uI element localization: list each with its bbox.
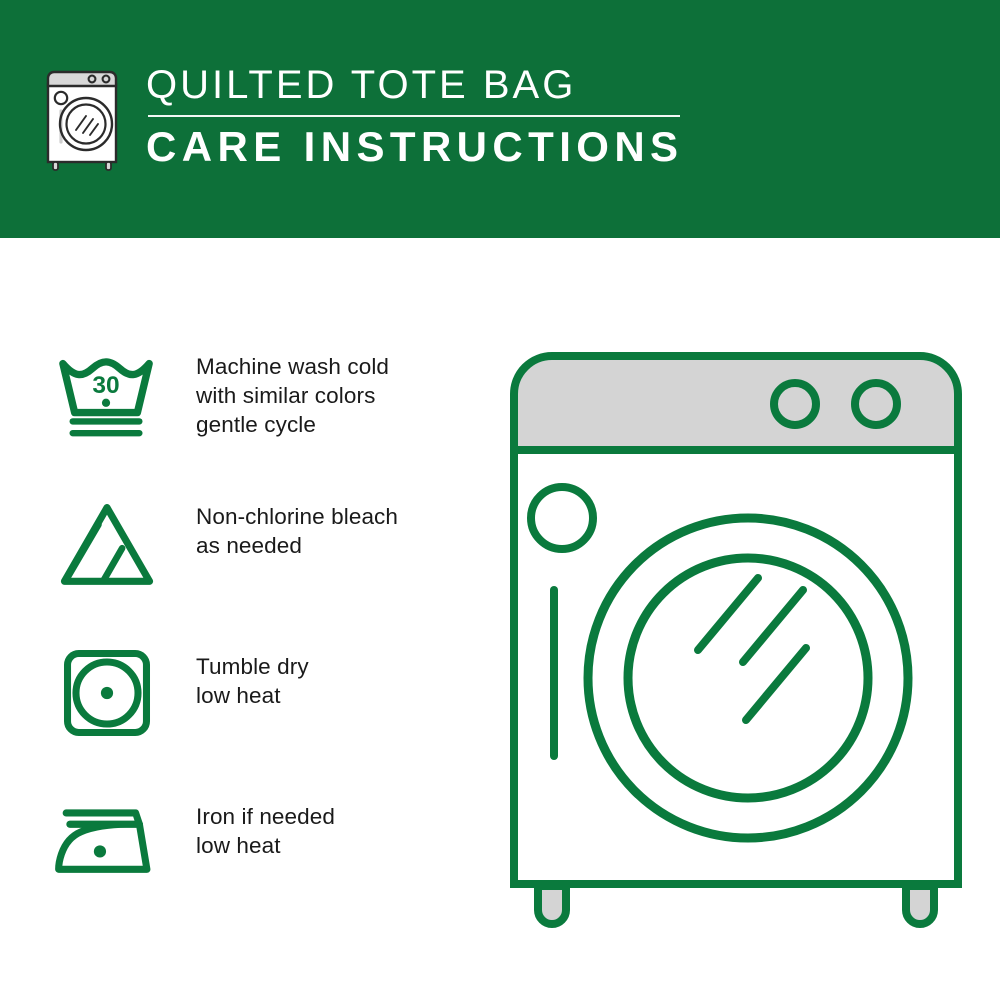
leg-left [538,886,566,924]
care-row: 30 Machine wash cold with similar colors… [48,338,468,488]
header-content: QUILTED TOTE BAG CARE INSTRUCTIONS [40,62,683,174]
care-label: Machine wash cold with similar colors ge… [196,338,389,439]
content-area: 30 Machine wash cold with similar colors… [0,238,1000,1000]
product-title: QUILTED TOTE BAG [146,62,683,108]
header-title-block: QUILTED TOTE BAG CARE INSTRUCTIONS [146,62,683,171]
header-banner: QUILTED TOTE BAG CARE INSTRUCTIONS [0,0,1000,238]
care-label: Tumble dry low heat [196,638,309,710]
leg-right [906,886,934,924]
wash-temperature-value: 30 [92,372,119,399]
care-instructions-infographic: QUILTED TOTE BAG CARE INSTRUCTIONS 30 [0,0,1000,1000]
tumble-dry-low-symbol [48,638,166,748]
care-label: Non-chlorine bleach as needed [196,488,398,560]
title-divider [148,115,680,117]
care-row: Non-chlorine bleach as needed [48,488,468,638]
care-row: Iron if needed low heat [48,788,468,938]
machine-wash-30-gentle-symbol: 30 [48,338,166,448]
care-instruction-list: 30 Machine wash cold with similar colors… [48,338,468,938]
washing-machine-icon [40,66,132,174]
care-row: Tumble dry low heat [48,638,468,788]
control-panel [514,356,958,450]
page-title: CARE INSTRUCTIONS [146,123,683,171]
front-load-washing-machine-illustration [496,338,976,938]
iron-low-heat-symbol [48,788,166,898]
care-label: Iron if needed low heat [196,788,335,860]
non-chlorine-bleach-symbol [48,488,166,598]
